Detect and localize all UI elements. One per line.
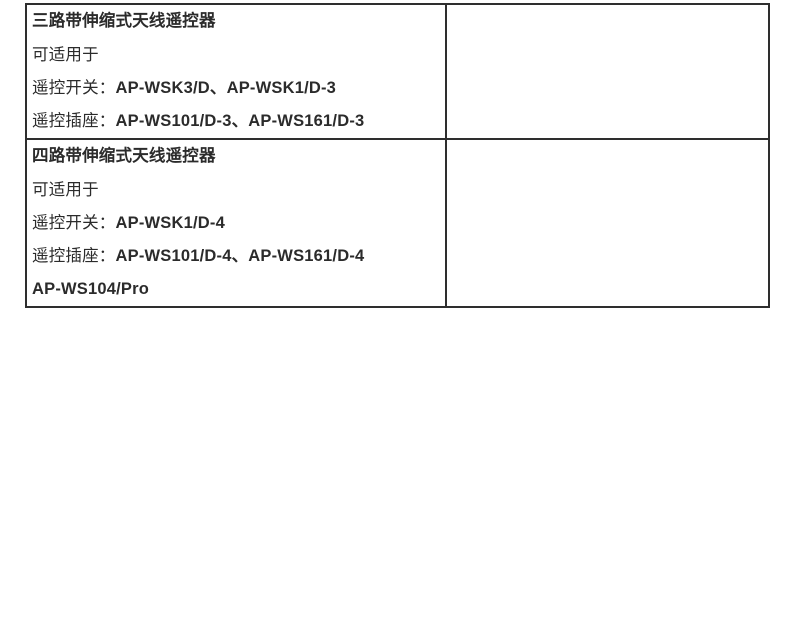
compat-value-socket: AP-WS101/D-3、AP-WS161/D-3 <box>116 112 365 130</box>
product-image-cell-row1: 1 2 3 Tow <box>446 4 769 139</box>
product-spec-page: 三路带伸缩式天线遥控器 可适用于 遥控开关：AP-WSK3/D、AP-WSK1/… <box>0 0 790 635</box>
product-title: 四路带伸缩式天线遥控器 <box>32 140 437 173</box>
table-row: 四路带伸缩式天线遥控器 可适用于 遥控开关：AP-WSK1/D-4 遥控插座：A… <box>26 139 769 307</box>
compat-label-switch: 遥控开关： <box>32 79 116 97</box>
product-title: 三路带伸缩式天线遥控器 <box>32 5 437 38</box>
applicable-label: 可适用于 <box>32 39 437 72</box>
spec-text-cell-row2: 四路带伸缩式天线遥控器 可适用于 遥控开关：AP-WSK1/D-4 遥控插座：A… <box>26 139 446 307</box>
spec-text-block: 四路带伸缩式天线遥控器 可适用于 遥控开关：AP-WSK1/D-4 遥控插座：A… <box>27 140 445 306</box>
compat-line-socket: 遥控插座：AP-WS101/D-3、AP-WS161/D-3 <box>32 105 437 138</box>
product-spec-table: 三路带伸缩式天线遥控器 可适用于 遥控开关：AP-WSK3/D、AP-WSK1/… <box>25 3 770 308</box>
compat-extra-model: AP-WS104/Pro <box>32 273 437 306</box>
compat-value-switch: AP-WSK3/D、AP-WSK1/D-3 <box>116 79 337 97</box>
spec-text-block: 三路带伸缩式天线遥控器 可适用于 遥控开关：AP-WSK3/D、AP-WSK1/… <box>27 5 445 138</box>
table-row: 三路带伸缩式天线遥控器 可适用于 遥控开关：AP-WSK3/D、AP-WSK1/… <box>26 4 769 139</box>
compat-value-switch: AP-WSK1/D-4 <box>116 214 225 232</box>
product-image-cell-row2: 1 2 3 4 T <box>446 139 769 307</box>
compat-line-switch: 遥控开关：AP-WSK3/D、AP-WSK1/D-3 <box>32 72 437 105</box>
compat-label-socket: 遥控插座： <box>32 112 116 130</box>
compat-label-switch: 遥控开关： <box>32 214 116 232</box>
compat-label-socket: 遥控插座： <box>32 247 116 265</box>
compat-line-switch: 遥控开关：AP-WSK1/D-4 <box>32 207 437 240</box>
compat-line-socket: 遥控插座：AP-WS101/D-4、AP-WS161/D-4 <box>32 240 437 273</box>
spec-text-cell-row1: 三路带伸缩式天线遥控器 可适用于 遥控开关：AP-WSK3/D、AP-WSK1/… <box>26 4 446 139</box>
applicable-label: 可适用于 <box>32 174 437 207</box>
compat-value-socket: AP-WS101/D-4、AP-WS161/D-4 <box>116 247 365 265</box>
